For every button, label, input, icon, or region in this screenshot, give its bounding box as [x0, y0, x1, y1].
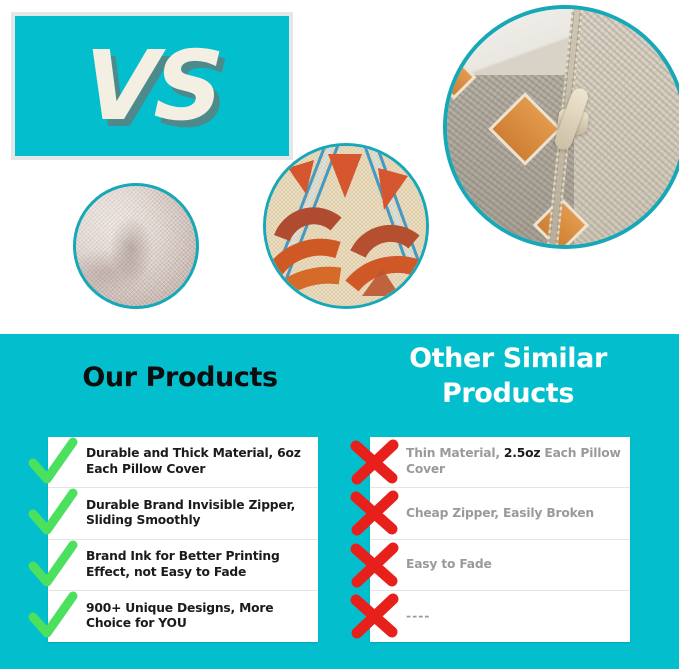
comparison-headings: Our Products Other Similar Products	[0, 334, 679, 430]
list-item: Easy to Fade	[370, 540, 630, 591]
green-check-icon	[26, 490, 80, 536]
other-products-heading: Other Similar Products	[358, 342, 658, 411]
list-item: Thin Material, 2.5oz Each Pillow Cover	[370, 437, 630, 488]
green-check-icon	[26, 542, 80, 588]
red-cross-icon	[348, 439, 402, 485]
fabric-texture-fill	[76, 186, 196, 306]
list-item-label: 900+ Unique Designs, More Choice for YOU	[86, 601, 310, 632]
vs-label: VS	[83, 43, 221, 129]
list-item-label: Durable Brand Invisible Zipper, Sliding …	[86, 498, 310, 529]
list-item: Durable and Thick Material, 6oz Each Pil…	[48, 437, 318, 488]
list-item: Cheap Zipper, Easily Broken	[370, 488, 630, 539]
list-item-label: Durable and Thick Material, 6oz Each Pil…	[86, 446, 310, 477]
pattern-print-fill	[266, 146, 426, 306]
list-item-label: Easy to Fade	[406, 557, 492, 573]
our-products-heading: Our Products	[30, 362, 330, 393]
comparison-columns: Durable and Thick Material, 6oz Each Pil…	[0, 437, 679, 642]
green-check-icon	[26, 439, 80, 485]
comparison-panel: Our Products Other Similar Products Dura…	[0, 334, 679, 669]
our-products-card: Durable and Thick Material, 6oz Each Pil…	[48, 437, 318, 642]
zipper-detail-photo	[443, 5, 679, 249]
list-item-label: Cheap Zipper, Easily Broken	[406, 506, 594, 522]
red-cross-icon	[348, 593, 402, 639]
list-item: ----	[370, 591, 630, 642]
list-item-label-pre: Thin Material,	[406, 446, 504, 460]
infographic-root: VS	[0, 0, 679, 669]
list-item: 900+ Unique Designs, More Choice for YOU	[48, 591, 318, 642]
vs-badge: VS	[11, 12, 293, 160]
other-products-card: Thin Material, 2.5oz Each Pillow Cover C…	[370, 437, 630, 642]
list-item-label: Thin Material, 2.5oz Each Pillow Cover	[406, 446, 622, 477]
hero-section: VS	[0, 0, 679, 334]
list-item-label: Brand Ink for Better Printing Effect, no…	[86, 549, 310, 580]
list-item: Durable Brand Invisible Zipper, Sliding …	[48, 488, 318, 539]
list-item-label: ----	[406, 609, 430, 623]
green-check-icon	[26, 593, 80, 639]
red-cross-icon	[348, 490, 402, 536]
zipper-photo-right-weave	[574, 9, 679, 245]
red-cross-icon	[348, 542, 402, 588]
pattern-print-photo	[263, 143, 429, 309]
list-item-label-highlight: 2.5oz	[504, 446, 540, 460]
fabric-texture-photo	[73, 183, 199, 309]
list-item: Brand Ink for Better Printing Effect, no…	[48, 540, 318, 591]
